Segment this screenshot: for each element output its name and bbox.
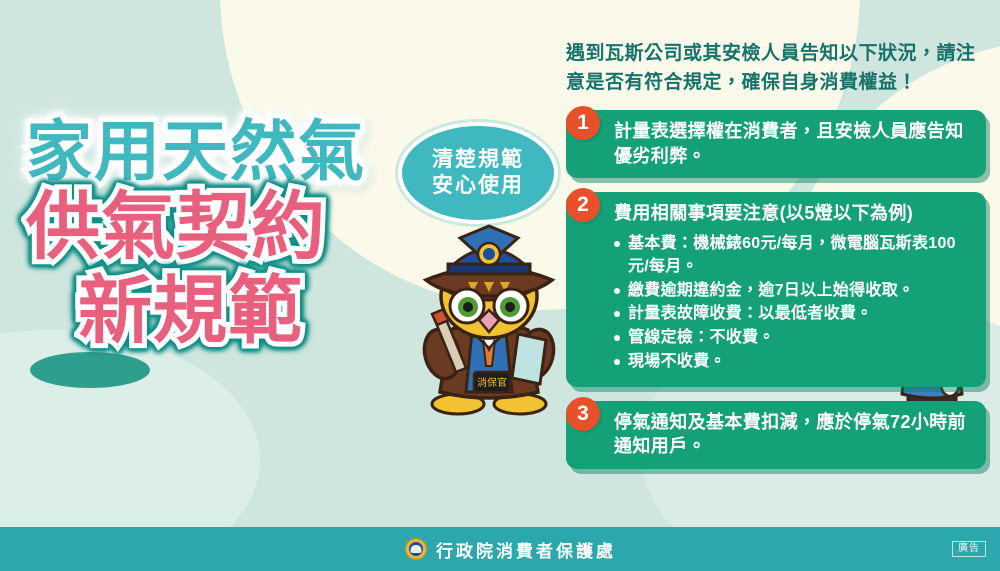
item-title-1: 計量表選擇權在消費者，且安檢人員應告知優劣利弊。 (614, 119, 972, 169)
content-item-2: 2 費用相關事項要注意(以5燈以下為例) 基本費：機械錶60元/每月，微電腦瓦斯… (566, 192, 986, 386)
intro-paragraph: 遇到瓦斯公司或其安檢人員告知以下狀況，請注意是否有符合規定，確保自身消費權益！ (566, 40, 986, 98)
advertisement-badge: 廣告 (952, 541, 986, 557)
footer-bar: 行政院消費者保護處 廣告 (0, 527, 1000, 571)
item-number-badge-1: 1 (566, 106, 600, 140)
list-item: 繳費逾期違約金，逾7日以上始得收取。 (614, 280, 972, 303)
government-emblem-icon (405, 538, 427, 560)
content-column: 遇到瓦斯公司或其安檢人員告知以下狀況，請注意是否有符合規定，確保自身消費權益！ … (566, 40, 986, 483)
headline-line-2: 供氣契約 (26, 190, 446, 264)
item-card-3: 停氣通知及基本費扣減，應於停氣72小時前通知用戶。 (566, 401, 986, 470)
background-accent-dot (30, 352, 150, 388)
list-item: 計量表故障收費：以最低者收費。 (614, 303, 972, 326)
item-card-1: 計量表選擇權在消費者，且安檢人員應告知優劣利弊。 (566, 110, 986, 179)
svg-text:消保官: 消保官 (477, 376, 507, 389)
content-item-1: 1 計量表選擇權在消費者，且安檢人員應告知優劣利弊。 (566, 110, 986, 179)
owl-officer-mascot: 消保官 (398, 222, 578, 417)
slogan-speech-bubble: 清楚規範 安心使用 (398, 122, 558, 224)
list-item: 管線定檢：不收費。 (614, 327, 972, 350)
poster-headline: 家用天然氣 供氣契約 新規範 (26, 118, 446, 348)
item-title-3: 停氣通知及基本費扣減，應於停氣72小時前通知用戶。 (614, 410, 972, 460)
headline-line-3: 新規範 (78, 274, 446, 348)
infographic-poster: 家用天然氣 供氣契約 新規範 清楚規範 安心使用 消保官 (0, 0, 1000, 571)
content-item-3: 3 停氣通知及基本費扣減，應於停氣72小時前通知用戶。 (566, 401, 986, 470)
slogan-line-1: 清楚規範 (432, 147, 524, 173)
footer-organization-name: 行政院消費者保護處 (436, 537, 616, 562)
headline-line-1: 家用天然氣 (26, 118, 446, 184)
item-card-2: 費用相關事項要注意(以5燈以下為例) 基本費：機械錶60元/每月，微電腦瓦斯表1… (566, 192, 986, 386)
footer-brand: 行政院消費者保護處 (405, 537, 616, 562)
item-2-bullet-list: 基本費：機械錶60元/每月，微電腦瓦斯表100元/每月。 繳費逾期違約金，逾7日… (614, 233, 972, 373)
item-number-badge-3: 3 (566, 397, 600, 431)
list-item: 現場不收費。 (614, 351, 972, 374)
slogan-line-2: 安心使用 (432, 173, 524, 199)
list-item: 基本費：機械錶60元/每月，微電腦瓦斯表100元/每月。 (614, 233, 972, 278)
item-title-2: 費用相關事項要注意(以5燈以下為例) (614, 201, 972, 226)
